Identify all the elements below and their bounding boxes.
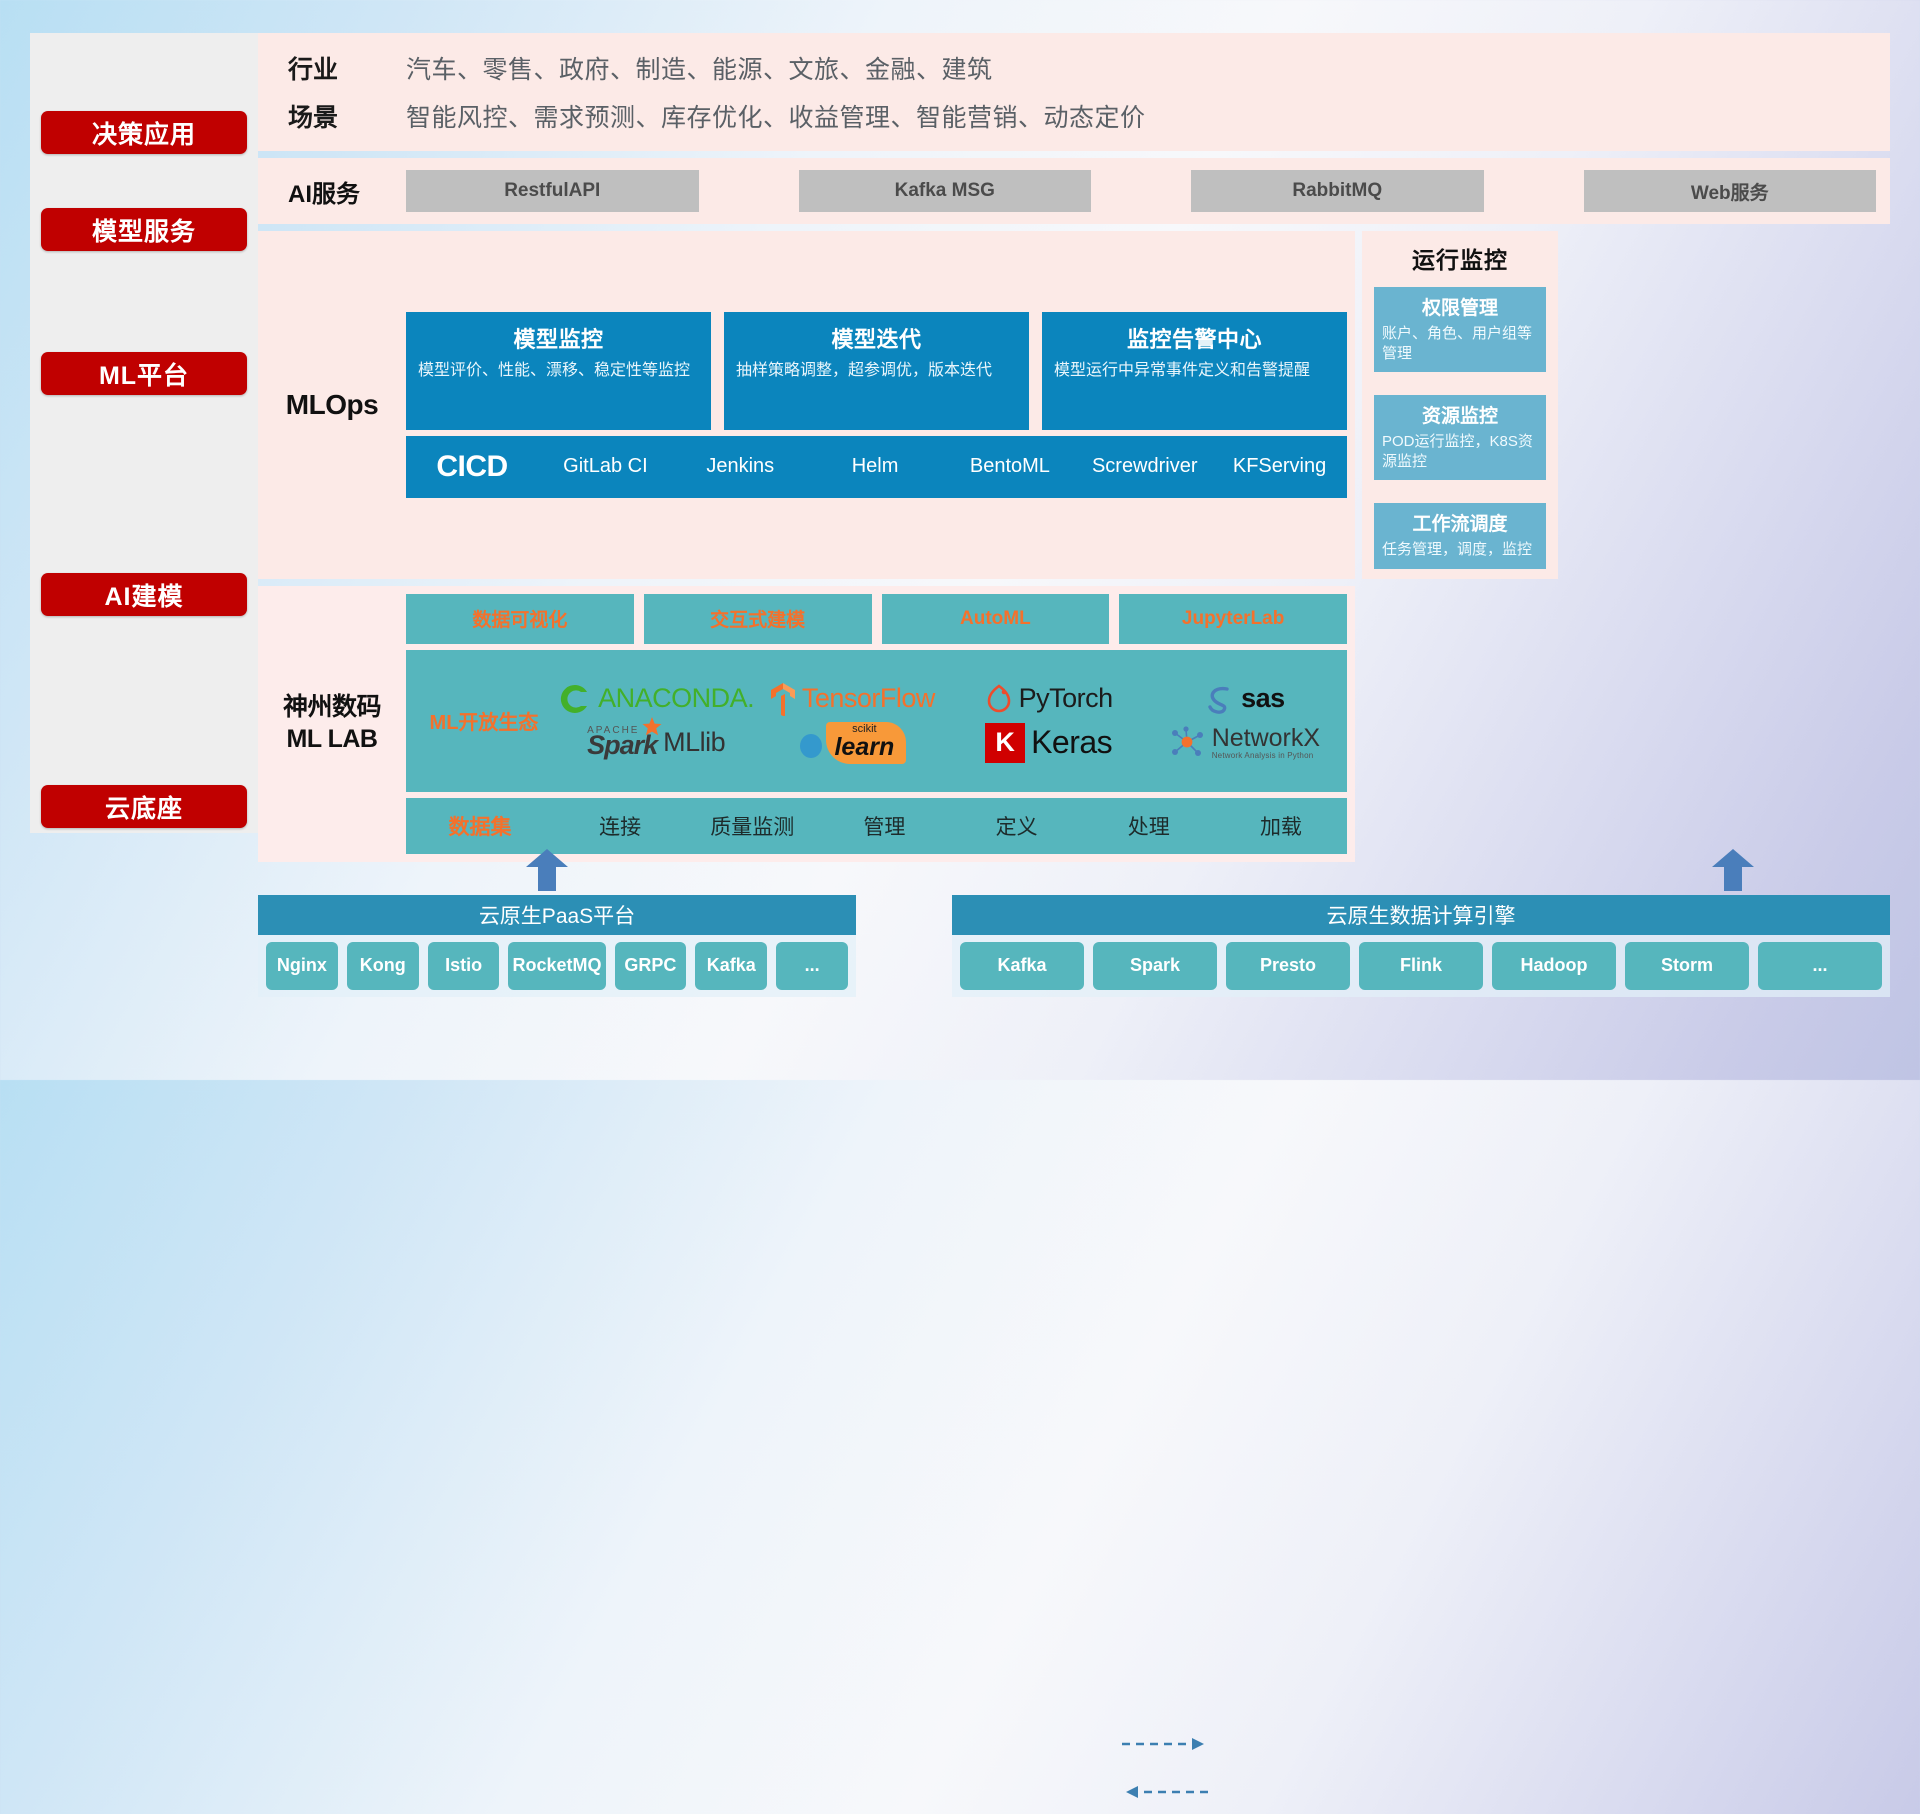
dataset-item-process[interactable]: 处理: [1083, 811, 1215, 841]
industry-scenario-band: 行业 场景 汽车、零售、政府、制造、能源、文旅、金融、建筑 智能风控、需求预测、…: [258, 33, 1890, 151]
rail-item-decision-app[interactable]: 决策应用: [41, 111, 247, 154]
tool-chip-data-visualization[interactable]: 数据可视化: [406, 594, 634, 644]
card-title: 模型监控: [418, 322, 699, 354]
ml-lab-tool-row: 数据可视化 交互式建模 AutoML JupyterLab: [406, 594, 1347, 644]
engine-chip-more[interactable]: ...: [1758, 942, 1882, 990]
paas-chip-istio[interactable]: Istio: [428, 942, 500, 990]
card-desc: POD运行监控，K8S资源监控: [1382, 432, 1538, 471]
industry-values: 汽车、零售、政府、制造、能源、文旅、金融、建筑 智能风控、需求预测、库存优化、收…: [406, 44, 1890, 140]
ml-lab-band: 神州数码 ML LAB 数据可视化 交互式建模 AutoML JupyterLa…: [258, 586, 1355, 862]
rail-item-ml-platform[interactable]: ML平台: [41, 352, 247, 395]
card-desc: 模型运行中异常事件定义和告警提醒: [1054, 360, 1335, 382]
ml-lab-label: 神州数码 ML LAB: [258, 692, 406, 755]
scenario-list: 智能风控、需求预测、库存优化、收益管理、智能营销、动态定价: [406, 92, 1890, 140]
card-desc: 模型评价、性能、漂移、稳定性等监控: [418, 360, 699, 382]
ml-ecosystem-label: ML开放生态: [410, 706, 558, 735]
keras-badge: K: [985, 723, 1025, 763]
sas-swirl-icon: [1205, 683, 1235, 715]
cicd-item-screwdriver[interactable]: Screwdriver: [1077, 456, 1212, 477]
cicd-item-gitlab-ci[interactable]: GitLab CI: [538, 456, 673, 477]
cicd-item-helm[interactable]: Helm: [808, 456, 943, 477]
industry-list: 汽车、零售、政府、制造、能源、文旅、金融、建筑: [406, 44, 1890, 92]
layer-rail: 决策应用 模型服务 ML平台 AI建模 云底座: [30, 33, 258, 833]
networkx-logo: NetworkX Network Analysis in Python: [1170, 726, 1320, 760]
data-engine-group: 云原生数据计算引擎 Kafka Spark Presto Flink Hadoo…: [952, 895, 1890, 997]
paas-chip-nginx[interactable]: Nginx: [266, 942, 338, 990]
runtime-monitoring-panel: 运行监控 权限管理 账户、角色、用户组等管理 资源监控 POD运行监控，K8S资…: [1362, 231, 1558, 579]
ai-service-band: AI服务 RestfulAPI Kafka MSG RabbitMQ Web服务: [258, 158, 1890, 224]
logo-text: ANACONDA.: [598, 683, 754, 714]
monitor-card-resource[interactable]: 资源监控 POD运行监控，K8S资源监控: [1374, 395, 1546, 480]
rail-item-model-service[interactable]: 模型服务: [41, 208, 247, 251]
card-desc: 任务管理，调度，监控: [1382, 540, 1538, 560]
engine-chip-flink[interactable]: Flink: [1359, 942, 1483, 990]
logo-text: PyTorch: [1019, 683, 1113, 714]
ai-service-chips: RestfulAPI Kafka MSG RabbitMQ Web服务: [406, 170, 1890, 212]
dataset-item-manage[interactable]: 管理: [818, 811, 950, 841]
engine-chip-presto[interactable]: Presto: [1226, 942, 1350, 990]
tensorflow-logo: TensorFlow: [770, 682, 935, 716]
paas-group: 云原生PaaS平台 Nginx Kong Istio RocketMQ GRPC…: [258, 895, 856, 997]
pytorch-icon: [985, 683, 1013, 715]
ml-lab-label-line1: 神州数码: [258, 692, 406, 723]
tool-chip-automl[interactable]: AutoML: [882, 594, 1110, 644]
logo-text: Keras: [1031, 724, 1112, 761]
card-desc: 抽样策略调整，超参调优，版本迭代: [736, 360, 1017, 382]
data-engine-chips: Kafka Spark Presto Flink Hadoop Storm ..…: [952, 935, 1890, 997]
bidirectional-dashed-connector: [1120, 1728, 1210, 1814]
paas-chip-kong[interactable]: Kong: [347, 942, 419, 990]
cicd-item-jenkins[interactable]: Jenkins: [673, 456, 808, 477]
dataset-item-quality-monitoring[interactable]: 质量监测: [686, 811, 818, 841]
logo-text: TensorFlow: [802, 683, 935, 714]
engine-chip-spark[interactable]: Spark: [1093, 942, 1217, 990]
ai-service-label: AI服务: [288, 174, 406, 209]
logo-text: sas: [1241, 683, 1285, 714]
logo-subtext: Network Analysis in Python: [1212, 751, 1320, 760]
cicd-item-kfserving[interactable]: KFServing: [1212, 456, 1347, 477]
spark-star-icon: [642, 717, 662, 737]
rail-item-ai-modeling[interactable]: AI建模: [41, 573, 247, 616]
engine-chip-kafka[interactable]: Kafka: [960, 942, 1084, 990]
tensorflow-icon: [770, 682, 796, 716]
paas-chip-kafka[interactable]: Kafka: [695, 942, 767, 990]
ai-chip-rabbitmq[interactable]: RabbitMQ: [1191, 170, 1484, 212]
data-engine-title: 云原生数据计算引擎: [952, 895, 1890, 935]
industry-label: 行业: [288, 44, 406, 92]
industry-labels: 行业 场景: [288, 44, 406, 140]
architecture-diagram: 决策应用 模型服务 ML平台 AI建模 云底座 行业 场景 汽车、零售、政府、制…: [0, 0, 1920, 1080]
main-column: 行业 场景 汽车、零售、政府、制造、能源、文旅、金融、建筑 智能风控、需求预测、…: [258, 33, 1890, 862]
ai-chip-restfulapi[interactable]: RestfulAPI: [406, 170, 699, 212]
ml-ecosystem-row: ML开放生态 ANACONDA.: [406, 650, 1347, 792]
rail-item-cloud-base[interactable]: 云底座: [41, 785, 247, 828]
data-engine-up-arrow-icon: [1710, 848, 1756, 892]
logo-text: learn: [834, 735, 894, 760]
spark-mllib-logo: APACHE Spark MLlib: [587, 725, 725, 761]
cicd-item-bentoml[interactable]: BentoML: [942, 456, 1077, 477]
logo-text: NetworkX: [1212, 726, 1320, 751]
paas-title: 云原生PaaS平台: [258, 895, 856, 935]
runtime-monitoring-title: 运行监控: [1374, 241, 1546, 275]
ai-chip-kafka-msg[interactable]: Kafka MSG: [799, 170, 1092, 212]
card-title: 模型迭代: [736, 322, 1017, 354]
networkx-graph-icon: [1170, 726, 1206, 760]
tool-chip-interactive-modeling[interactable]: 交互式建模: [644, 594, 872, 644]
anaconda-icon: [558, 682, 592, 716]
card-title: 监控告警中心: [1054, 322, 1335, 354]
cicd-label: CICD: [406, 450, 538, 484]
dataset-item-load[interactable]: 加载: [1215, 811, 1347, 841]
paas-up-arrow-icon: [524, 848, 570, 892]
logo-text: MLlib: [663, 727, 725, 758]
card-title: 工作流调度: [1382, 509, 1538, 536]
paas-chip-rocketmq[interactable]: RocketMQ: [508, 942, 605, 990]
dataset-item-connect[interactable]: 连接: [554, 811, 686, 841]
paas-chip-grpc[interactable]: GRPC: [615, 942, 687, 990]
pytorch-logo: PyTorch: [985, 683, 1113, 715]
mlops-card-alert-center[interactable]: 监控告警中心 模型运行中异常事件定义和告警提醒: [1042, 312, 1347, 430]
engine-chip-storm[interactable]: Storm: [1625, 942, 1749, 990]
paas-chip-more[interactable]: ...: [776, 942, 848, 990]
card-title: 权限管理: [1382, 293, 1538, 320]
mlops-card-model-iteration[interactable]: 模型迭代 抽样策略调整，超参调优，版本迭代: [724, 312, 1029, 430]
cloud-base-layer: 云原生PaaS平台 Nginx Kong Istio RocketMQ GRPC…: [258, 838, 1890, 1048]
dataset-label: 数据集: [406, 811, 554, 841]
mlops-cards: 模型监控 模型评价、性能、漂移、稳定性等监控 模型迭代 抽样策略调整，超参调优，…: [406, 312, 1347, 430]
engine-chip-hadoop[interactable]: Hadoop: [1492, 942, 1616, 990]
monitor-card-workflow[interactable]: 工作流调度 任务管理，调度，监控: [1374, 503, 1546, 569]
monitor-card-permission[interactable]: 权限管理 账户、角色、用户组等管理: [1374, 287, 1546, 372]
mlops-card-model-monitoring[interactable]: 模型监控 模型评价、性能、漂移、稳定性等监控: [406, 312, 711, 430]
card-title: 资源监控: [1382, 401, 1538, 428]
mlops-band: MLOps 模型监控 模型评价、性能、漂移、稳定性等监控 模型迭代 抽样策略调整…: [258, 231, 1355, 579]
dataset-item-define[interactable]: 定义: [951, 811, 1083, 841]
keras-logo: K Keras: [985, 723, 1112, 763]
sas-logo: sas: [1205, 683, 1285, 715]
anaconda-logo: ANACONDA.: [558, 682, 754, 716]
cicd-bar: CICD GitLab CI Jenkins Helm BentoML Scre…: [406, 436, 1347, 498]
scikit-learn-logo: scikit learn: [798, 722, 906, 764]
scenario-label: 场景: [288, 92, 406, 140]
tool-chip-jupyterlab[interactable]: JupyterLab: [1119, 594, 1347, 644]
card-desc: 账户、角色、用户组等管理: [1382, 324, 1538, 363]
paas-chips: Nginx Kong Istio RocketMQ GRPC Kafka ...: [258, 935, 856, 997]
ml-lab-label-line2: ML LAB: [258, 724, 406, 755]
ai-chip-web-service[interactable]: Web服务: [1584, 170, 1877, 212]
framework-logo-grid: ANACONDA. TensorFlow: [558, 678, 1343, 764]
mlops-row: MLOps 模型监控 模型评价、性能、漂移、稳定性等监控 模型迭代 抽样策略调整…: [258, 231, 1890, 579]
mlops-label: MLOps: [258, 389, 406, 421]
